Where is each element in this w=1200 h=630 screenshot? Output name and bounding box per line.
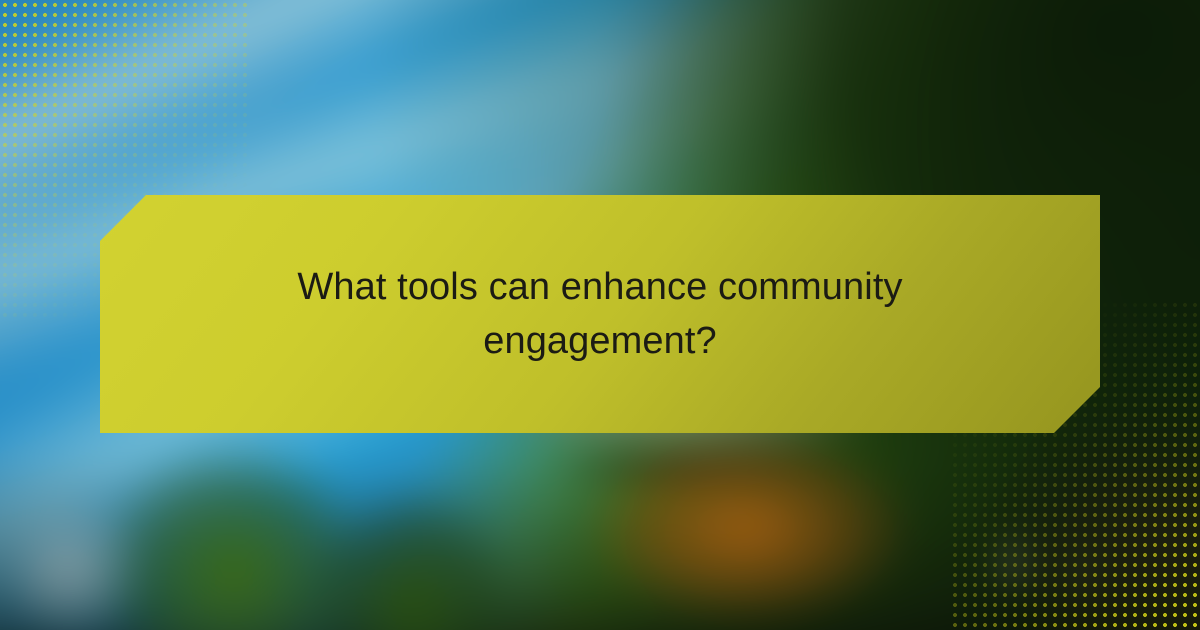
social-card-canvas: What tools can enhance community engagem… [0, 0, 1200, 630]
question-banner: What tools can enhance community engagem… [100, 195, 1100, 433]
question-text: What tools can enhance community engagem… [220, 260, 980, 368]
